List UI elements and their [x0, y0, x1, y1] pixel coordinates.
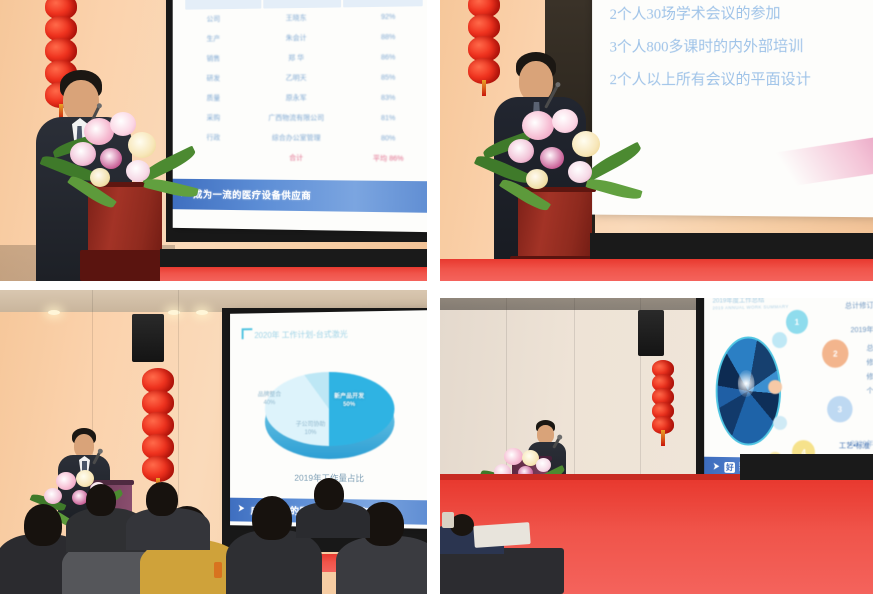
slide-text-block: 1个人1年的全年培训会议的组织 2个人30场学术会议的参加 3个人800多课时的… [610, 0, 873, 167]
table-cell: 郑 华 [242, 53, 352, 64]
stage-carpet [440, 259, 873, 281]
table-cell: 83% [352, 95, 426, 102]
slide-banner: ➤ 成为一流的医疗设备供应商 [173, 178, 427, 212]
projection-screen: 公司王晓东92% 生产朱会计88% 销售郑 华86% 研发乙明天85% 质量原永… [173, 0, 427, 232]
slide-header: 2019年度工作总结 2019 ANNUAL WORK SUMMARY [712, 298, 788, 312]
red-lantern-decoration [652, 360, 674, 446]
slide-line: 2个人30场学术会议的参加 [610, 6, 873, 24]
collage-panel-bottom-right[interactable]: 2019年度工作总结 2019 ANNUAL WORK SUMMARY 1 2 … [440, 298, 873, 594]
stage-edge [590, 233, 873, 259]
table-cell: 销售 [185, 54, 241, 64]
slide-line: 2个人以上所有会议的平面设计 [610, 72, 873, 88]
decor-bubble [768, 380, 782, 394]
table-cell: 86% [352, 54, 426, 62]
stage-backdrop-shadow [740, 454, 873, 480]
table-cell: 乙明天 [242, 73, 352, 83]
decor-bubble [772, 332, 788, 348]
slide-right-line: 个 [866, 386, 873, 397]
table-footer-row: 合计平均 86% [185, 148, 425, 169]
table-cell: 80% [352, 135, 426, 142]
front-table [440, 548, 564, 594]
table-cell: 研发 [185, 74, 241, 84]
slide-banner-text: 成为一流的医疗设备供应商 [193, 187, 311, 202]
decor-bubble [773, 416, 787, 430]
slide-line-text: 2个人以上所有会议的平面设计 [610, 71, 811, 87]
table-footer-cell: 合计 [242, 153, 352, 164]
podium-base [80, 250, 170, 281]
slide-right-title: 总计修订 [845, 300, 873, 312]
table-footer-cell: 平均 86% [352, 153, 426, 164]
pie-chart-top [265, 372, 394, 447]
water-bottle [214, 562, 222, 578]
ceiling-speaker-box [638, 310, 664, 356]
table-row: 生产朱会计88% [185, 27, 425, 49]
number-bubble: 3 [827, 396, 852, 422]
slide-right-line: 总 [866, 343, 873, 354]
pie-slice-label: 新产品开发50% [334, 393, 364, 409]
chevron-right-icon: ➤ [238, 504, 245, 515]
table-cell: 生产 [185, 34, 241, 44]
corner-bracket-icon [242, 328, 253, 339]
conference-scene-br: 2019年度工作总结 2019 ANNUAL WORK SUMMARY 1 2 … [440, 298, 873, 594]
slide-line-text: 3个人800多课时的内外部培训 [610, 38, 804, 55]
conference-scene-bl: 2020年 工作计划-台式激光 品牌整合40% 新产品开发50% 子公司协助10… [0, 290, 427, 594]
pie-slice-label: 子公司协助10% [296, 421, 326, 437]
slide-line-text: 2个人30场学术会议的参加 [610, 6, 781, 23]
photo-collage: 公司王晓东92% 生产朱会计88% 销售郑 华86% 研发乙明天85% 质量原永… [0, 0, 873, 594]
table-row: 公司王晓东92% [185, 6, 425, 29]
slide-line: 3个人800多课时的内外部培训 [610, 39, 873, 56]
ceiling-spotlight [196, 310, 208, 315]
flower-bouquet [40, 110, 200, 210]
table-row: 研发乙明天85% [185, 68, 425, 89]
table-cell: 公司 [185, 14, 241, 25]
table-cell: 王晓东 [242, 13, 352, 24]
table-cell: 88% [352, 33, 426, 41]
collage-panel-top-right[interactable]: 1个人1年的全年培训会议的组织 2个人30场学术会议的参加 3个人800多课时的… [440, 0, 873, 281]
table-cell: 81% [352, 115, 426, 122]
collage-panel-bottom-left[interactable]: 2020年 工作计划-台式激光 品牌整合40% 新产品开发50% 子公司协助10… [0, 290, 427, 594]
pie-slice-label: 品牌整合40% [258, 391, 281, 407]
slide-header-subtext: 2019 ANNUAL WORK SUMMARY [712, 304, 788, 311]
table-cell: 综合办公室管理 [242, 133, 352, 143]
table-cell: 广西物流有限公司 [242, 113, 352, 123]
table-cell: 原永军 [242, 93, 352, 103]
table-cell: 92% [352, 13, 426, 21]
table-row: 质量原永军83% [185, 88, 425, 108]
table-cell: 85% [352, 74, 426, 81]
company-logo-icon: 好 [725, 461, 736, 472]
slide-title-text: 2020年 工作计划-台式激光 [254, 330, 347, 340]
red-lantern-decoration [142, 368, 174, 494]
head [519, 61, 553, 102]
chevron-right-icon: ➤ [713, 461, 720, 472]
flower-bouquet [474, 105, 644, 215]
paper-document [473, 522, 530, 548]
slide-right-line: 修 [866, 357, 873, 368]
number-bubble: 1 [786, 310, 809, 334]
conference-scene-tl: 公司王晓东92% 生产朱会计88% 销售郑 华86% 研发乙明天85% 质量原永… [0, 0, 427, 281]
conference-scene-tr: 1个人1年的全年培训会议的组织 2个人30场学术会议的参加 3个人800多课时的… [440, 0, 873, 281]
slide-right-line: 2019年 [850, 325, 873, 337]
table-row: 采购广西物流有限公司81% [185, 108, 425, 128]
table-row: 行政综合办公室管理80% [185, 128, 425, 149]
stage-edge [160, 249, 427, 267]
stage-carpet [160, 267, 427, 281]
table-cell: 朱会计 [242, 33, 352, 44]
table-row: 销售郑 华86% [185, 47, 425, 69]
water-glass [442, 512, 454, 528]
slide-title: 2020年 工作计划-台式激光 [242, 327, 348, 341]
number-bubble: 2 [822, 339, 849, 368]
slide-right-line: 修 [866, 372, 873, 383]
pie-chart: 品牌整合40% 新产品开发50% 子公司协助10% [265, 372, 394, 468]
slide-table: 公司王晓东92% 生产朱会计88% 销售郑 华86% 研发乙明天85% 质量原永… [185, 0, 425, 169]
ceiling-spotlight [48, 310, 60, 315]
collage-panel-top-left[interactable]: 公司王晓东92% 生产朱会计88% 销售郑 华86% 研发乙明天85% 质量原永… [0, 0, 427, 281]
ceiling-speaker-box [132, 314, 164, 362]
slide-footer-text: 工艺•标准 [839, 441, 870, 452]
table-cell: 质量 [185, 93, 241, 103]
